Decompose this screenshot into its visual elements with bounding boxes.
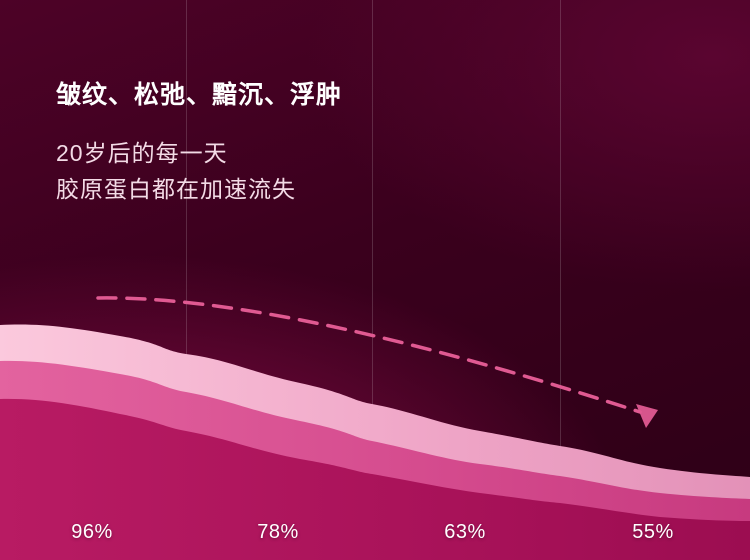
trend-arrow-head [636, 404, 658, 428]
promo-banner: 皱纹、松弛、黯沉、浮肿 20岁后的每一天 胶原蛋白都在加速流失 [0, 0, 750, 560]
subtitle-line-2: 胶原蛋白都在加速流失 [56, 172, 342, 208]
percent-label-50s: 55% [632, 521, 674, 544]
percent-label-40s: 63% [444, 521, 486, 544]
copy-block: 皱纹、松弛、黯沉、浮肿 20岁后的每一天 胶原蛋白都在加速流失 [56, 80, 342, 207]
percent-label-30s: 78% [257, 521, 299, 544]
percent-label-row: 96% 78% 63% 55% [0, 498, 750, 560]
subtitle-line-1: 20岁后的每一天 [56, 136, 342, 172]
headline: 皱纹、松弛、黯沉、浮肿 [56, 80, 342, 110]
percent-label-20s: 96% [71, 521, 113, 544]
subtitle: 20岁后的每一天 胶原蛋白都在加速流失 [56, 136, 342, 207]
